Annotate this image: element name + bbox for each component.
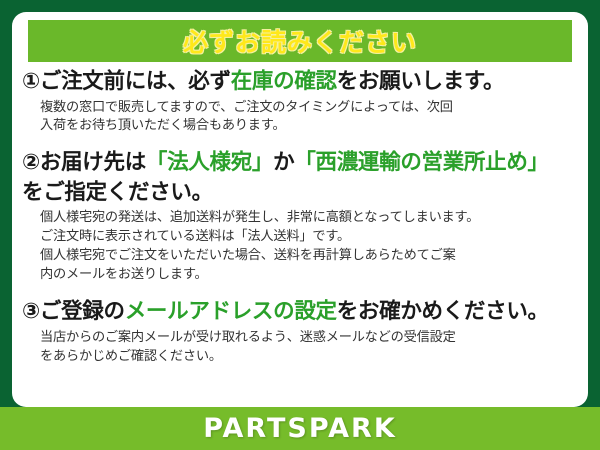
- notice-item-2-subtext-line-3: 個人様宅宛でご注文をいただいた場合、送料を再計算しあらためてご案: [40, 247, 580, 266]
- notice-item-1-heading-part-3: をお願いします。: [337, 69, 504, 94]
- notice-item-2-heading-highlight-1: 「法人様宛」: [146, 150, 273, 175]
- notice-item-2-heading: ②お届け先は「法人様宛」か「西濃運輸の営業所止め」: [22, 148, 580, 178]
- notice-title-banner: 必ずお読みください: [28, 20, 572, 62]
- notice-item-1-heading-part-1: ①ご注文前には、必ず: [22, 69, 231, 94]
- notice-item-2-heading-part-1: ②お届け先は: [22, 150, 146, 175]
- notice-item-3-heading: ③ご登録のメールアドレスの設定をお確かめください。: [22, 297, 580, 327]
- notice-item-1: ①ご注文前には、必ず在庫の確認をお願いします。 複数の窓口で販売してますので、ご…: [12, 67, 588, 136]
- notice-items-list: ①ご注文前には、必ず在庫の確認をお願いします。 複数の窓口で販売してますので、ご…: [12, 67, 588, 367]
- notice-item-3-heading-part-3: をお確かめください。: [337, 299, 549, 324]
- notice-item-2-subtext: 個人様宅宛の発送は、追加送料が発生し、非常に高額となってしまいます。 ご注文時に…: [22, 209, 580, 284]
- notice-item-2-subtext-line-1: 個人様宅宛の発送は、追加送料が発生し、非常に高額となってしまいます。: [40, 209, 580, 228]
- notice-item-3-heading-part-1: ③ご登録の: [22, 299, 125, 324]
- notice-item-1-heading-highlight: 在庫の確認: [231, 69, 337, 94]
- notice-item-1-subtext: 複数の窓口で販売してますので、ご注文のタイミングによっては、次回 入荷をお待ち頂…: [22, 99, 580, 136]
- notice-item-3-heading-highlight: メールアドレスの設定: [125, 299, 337, 324]
- footer-brand-bar: PARTSPARK: [0, 407, 600, 450]
- notice-item-2-subtext-line-2: ご注文時に表示されている送料は「法人送料」です。: [40, 228, 580, 247]
- notice-item-1-subtext-line-2: 入荷をお待ち頂いただく場合もあります。: [40, 117, 580, 136]
- notice-item-3-subtext: 当店からのご案内メールが受け取れるよう、迷惑メールなどの受信設定 をあらかじめご…: [22, 329, 580, 366]
- notice-frame: 必ずお読みください ①ご注文前には、必ず在庫の確認をお願いします。 複数の窓口で…: [0, 0, 600, 450]
- notice-title: 必ずお読みください: [183, 23, 417, 59]
- notice-item-2-heading-highlight-2: 「西濃運輸の営業所止め」: [294, 150, 548, 175]
- brand-logo-text: PARTSPARK: [203, 413, 397, 444]
- notice-item-2-heading-part-3: か: [273, 150, 294, 175]
- notice-item-2: ②お届け先は「法人様宛」か「西濃運輸の営業所止め」 をご指定ください。 個人様宅…: [12, 148, 588, 284]
- notice-item-1-heading: ①ご注文前には、必ず在庫の確認をお願いします。: [22, 67, 580, 97]
- notice-item-3-subtext-line-2: をあらかじめご確認ください。: [40, 348, 580, 367]
- notice-item-2-heading-line-2: をご指定ください。: [22, 178, 580, 208]
- notice-item-1-subtext-line-1: 複数の窓口で販売してますので、ご注文のタイミングによっては、次回: [40, 99, 580, 118]
- notice-item-3: ③ご登録のメールアドレスの設定をお確かめください。 当店からのご案内メールが受け…: [12, 297, 588, 366]
- notice-item-3-subtext-line-1: 当店からのご案内メールが受け取れるよう、迷惑メールなどの受信設定: [40, 329, 580, 348]
- notice-item-2-subtext-line-4: 内のメールをお送りします。: [40, 266, 580, 285]
- notice-panel: 必ずお読みください ①ご注文前には、必ず在庫の確認をお願いします。 複数の窓口で…: [12, 12, 588, 407]
